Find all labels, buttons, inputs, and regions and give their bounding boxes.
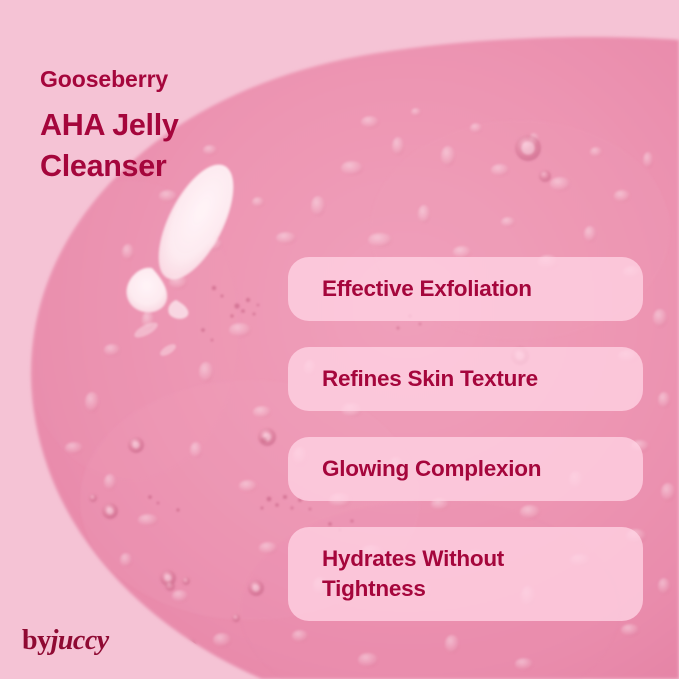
benefit-pill-refines-skin-texture: Refines Skin Texture [288,347,643,411]
benefit-label: Glowing Complexion [322,454,541,484]
benefit-label: Refines Skin Texture [322,364,538,394]
logo-name: juccy [51,625,109,656]
benefit-pill-glowing-complexion: Glowing Complexion [288,437,643,501]
benefits-list: Effective Exfoliation Refines Skin Textu… [288,257,643,621]
logo-prefix: by [22,625,51,656]
brand-logo: byjuccy [22,625,109,657]
page-title: Gooseberry AHA Jelly Cleanser [40,68,179,186]
benefit-label: Effective Exfoliation [322,274,532,304]
brand-descriptor: Gooseberry [40,68,179,91]
product-infographic-canvas: Gooseberry AHA Jelly Cleanser Effective … [0,0,679,679]
benefit-pill-hydrates-without-tightness: Hydrates Without Tightness [288,527,643,621]
product-name: AHA Jelly Cleanser [40,105,179,186]
benefit-pill-effective-exfoliation: Effective Exfoliation [288,257,643,321]
benefit-label: Hydrates Without Tightness [322,544,504,604]
